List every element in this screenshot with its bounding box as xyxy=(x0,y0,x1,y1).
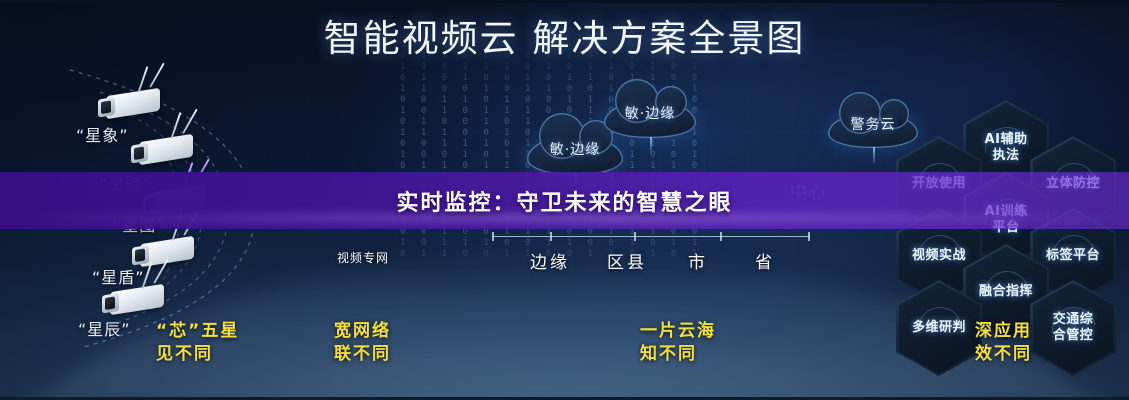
hex-label-fusion-command: 融合指挥 xyxy=(979,284,1033,300)
camera-label-4: “星盾” xyxy=(92,264,145,288)
top-edge xyxy=(0,0,1129,3)
slogan-chip: “芯”五星 见不同 xyxy=(156,320,239,366)
cloud-edge-2: 敏·边缘 xyxy=(604,88,696,138)
camera-icon-5 xyxy=(110,288,164,311)
hex-label-ai-enforcement: AI辅助 执法 xyxy=(985,132,1028,164)
tier-label-city: 市 xyxy=(688,248,708,273)
hex-label-multidim-analysis: 多维研判 xyxy=(912,320,966,336)
page-title: 智能视频云 解决方案全景图 xyxy=(0,16,1129,62)
cloud-label-3: 警务云 xyxy=(828,100,918,148)
camera-icon-2 xyxy=(139,138,193,161)
network-label: 视频专网 xyxy=(337,249,389,266)
tier-label-edge: 边缘 xyxy=(530,248,570,273)
camera-label-1: “星象” xyxy=(76,122,129,146)
slogan-network: 宽网络 联不同 xyxy=(334,320,391,366)
slogan-cloud: 一片云海 知不同 xyxy=(640,320,716,366)
tier-label-province: 省 xyxy=(755,248,775,273)
hex-label-video-practice: 视频实战 xyxy=(912,248,966,264)
cloud-label-2: 敏·边缘 xyxy=(604,88,696,138)
hex-label-traffic-control: 交通综 合管控 xyxy=(1053,312,1094,344)
banner-text: 实时监控：守卫未来的智慧之眼 xyxy=(0,172,1129,229)
cloud-police: 警务云 xyxy=(828,100,918,148)
tier-label-district: 区县 xyxy=(607,248,647,273)
camera-label-5: “星辰” xyxy=(78,316,131,340)
tier-axis-line xyxy=(492,236,810,237)
hex-label-tag-platform: 标签平台 xyxy=(1046,248,1100,264)
overlay-banner: 实时监控：守卫未来的智慧之眼 xyxy=(0,172,1129,229)
slogan-application: 深应用 效不同 xyxy=(975,320,1032,366)
camera-icon-1 xyxy=(106,92,160,115)
panorama-infographic: 1 0 1 0 0 1 1 0 1 0 1 1 0 0 1 0 1 1 0 1 … xyxy=(0,0,1129,400)
